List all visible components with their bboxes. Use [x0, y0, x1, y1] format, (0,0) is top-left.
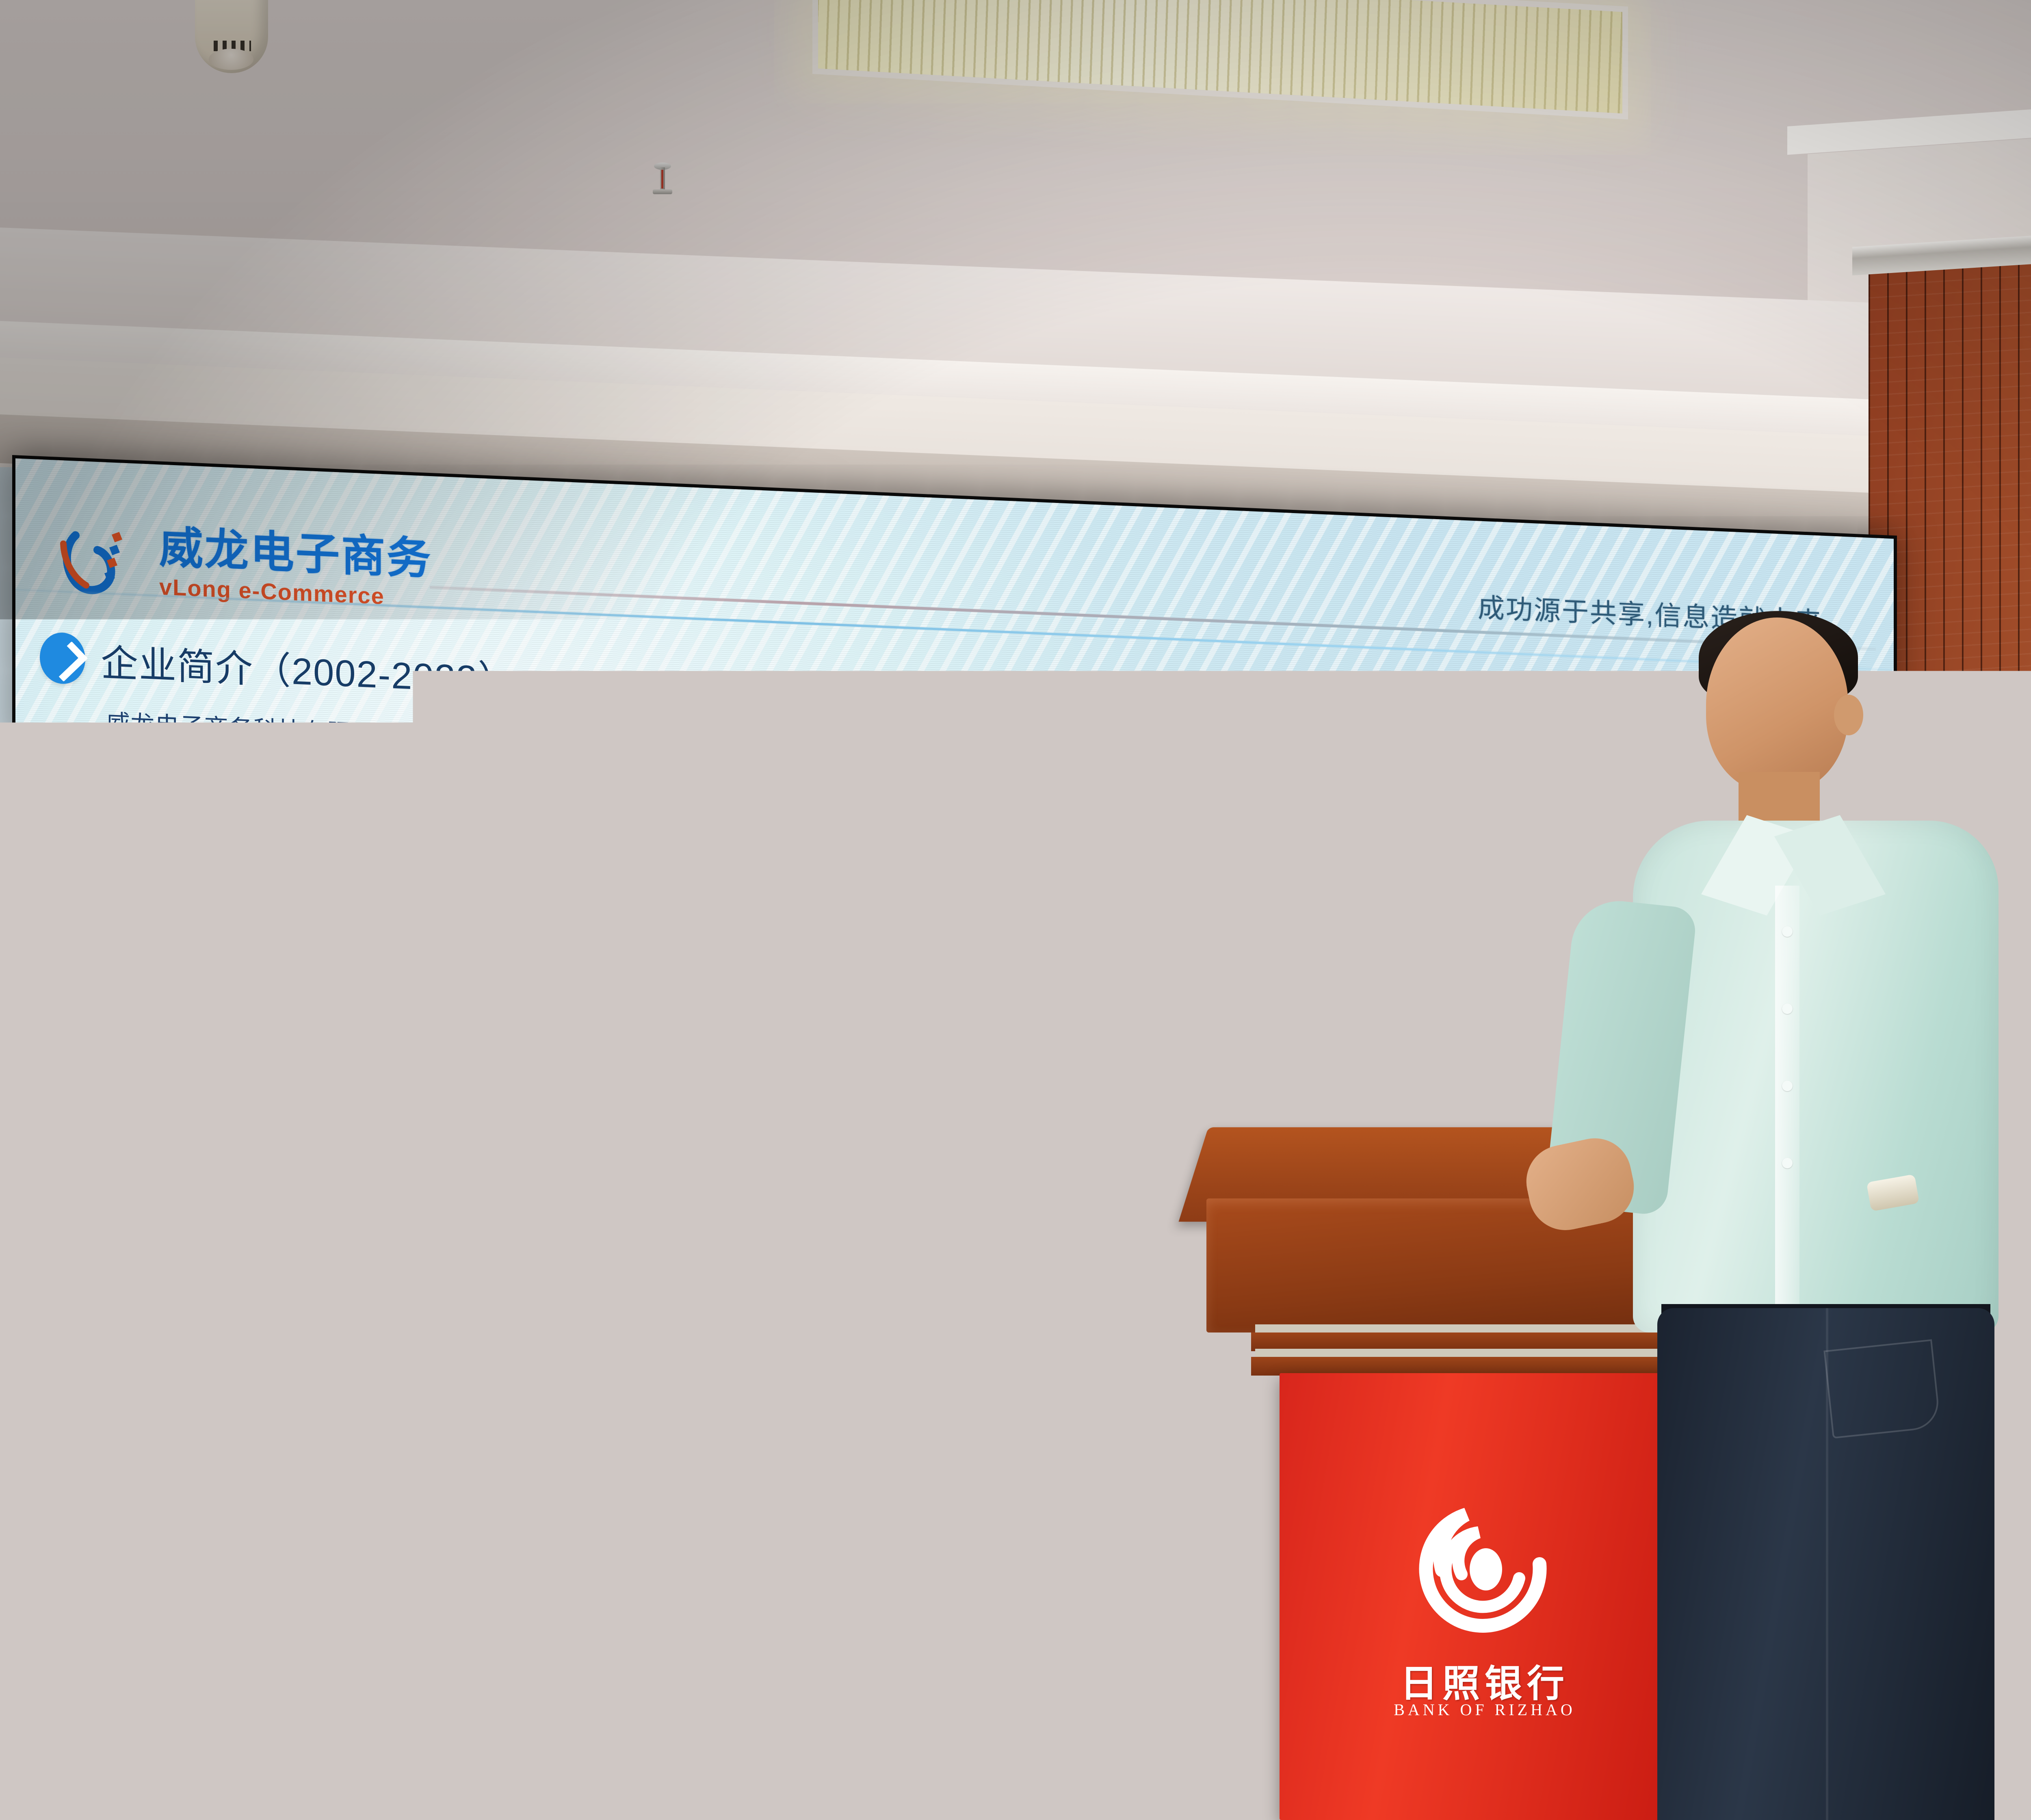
body-paragraph-1: 威龙电子商务科技有限公司，在潍坊地区首批获得行业运营资质是知名的企业电子商务整体…	[58, 703, 842, 882]
certificate-title: 荣誉证书	[929, 725, 1062, 773]
mockup-nav-item: 关于我们	[1079, 1133, 1104, 1143]
presenter-head	[1706, 617, 1848, 792]
body-paragraph-3: 威龙秉承着“让客户满意，为客户赢利”的经营宗旨，凭借理念与管理优势，以及完善的电…	[58, 965, 842, 1217]
chevron-right-icon	[40, 631, 85, 685]
presenter-jeans	[1657, 1308, 1994, 1820]
certificate-title: 荣誉证书	[1431, 746, 1564, 795]
certificate-card: 荣誉证书 潍坊威龙电子商务科技有限公司： 你单位被评为消费者满意单位，特发此证。	[1379, 720, 1616, 910]
certificate-recipient: 潍坊威龙电子商务科技有限公司：	[1403, 795, 1549, 816]
mockup-nav-item: 案例展示	[1166, 1137, 1190, 1147]
certificate-title: 荣誉证书	[1180, 736, 1313, 784]
smoke-detector-icon	[195, 0, 268, 73]
vlong-logo-mark-icon	[52, 522, 145, 599]
certificate-recipient: 潍坊威龙电子商务科技有限公司：	[901, 774, 1047, 794]
presenter-person	[1584, 617, 2031, 1820]
group-photo-banner-text: 潍坊威龙电子商务精英团—云南双飞6日游	[918, 1055, 1342, 1093]
mockup-nav-item: 网站建设	[1122, 1135, 1147, 1145]
slide-title: 企业简介（2002-2022）	[101, 633, 516, 704]
certificate-card: 荣誉证书 潍坊威龙电子商务科技有限公司： 你单位被评为山东省第八届消费者满意单位…	[1128, 709, 1365, 899]
presenter-shirt-placket	[1775, 886, 1799, 1316]
presenter-ear	[1834, 695, 1863, 735]
rizhao-bank-swirl-icon	[1418, 1503, 1552, 1637]
logo-text-chinese: 威龙电子商务	[159, 525, 432, 581]
team-group-photo: 潍坊威龙电子商务精英团—云南双飞6日游	[913, 903, 1384, 1126]
presentation-room-scene: 威龙电子商务 vLong e-Commerce 成功源于共享,信息造就未来 企业…	[0, 0, 2031, 1820]
sprinkler-head-icon	[654, 162, 671, 202]
certificate-gallery: 荣誉证书 潍坊威龙电子商务科技有限公司： 你单位被评为山东省第七届消费者满意单位…	[877, 698, 1616, 910]
certificate-card: 荣誉证书 潍坊威龙电子商务科技有限公司： 你单位被评为山东省第七届消费者满意单位…	[877, 698, 1114, 889]
group-photo-banner: 潍坊威龙电子商务精英团—云南双飞6日游	[925, 1045, 1334, 1104]
slide-title-row: 企业简介（2002-2022）	[40, 630, 516, 704]
presenter-jeans-pocket	[1823, 1339, 1941, 1439]
slide-body-text: 威龙电子商务科技有限公司，在潍坊地区首批获得行业运营资质是知名的企业电子商务整体…	[58, 703, 842, 1220]
certificate-recipient: 潍坊威龙电子商务科技有限公司：	[1152, 784, 1298, 805]
